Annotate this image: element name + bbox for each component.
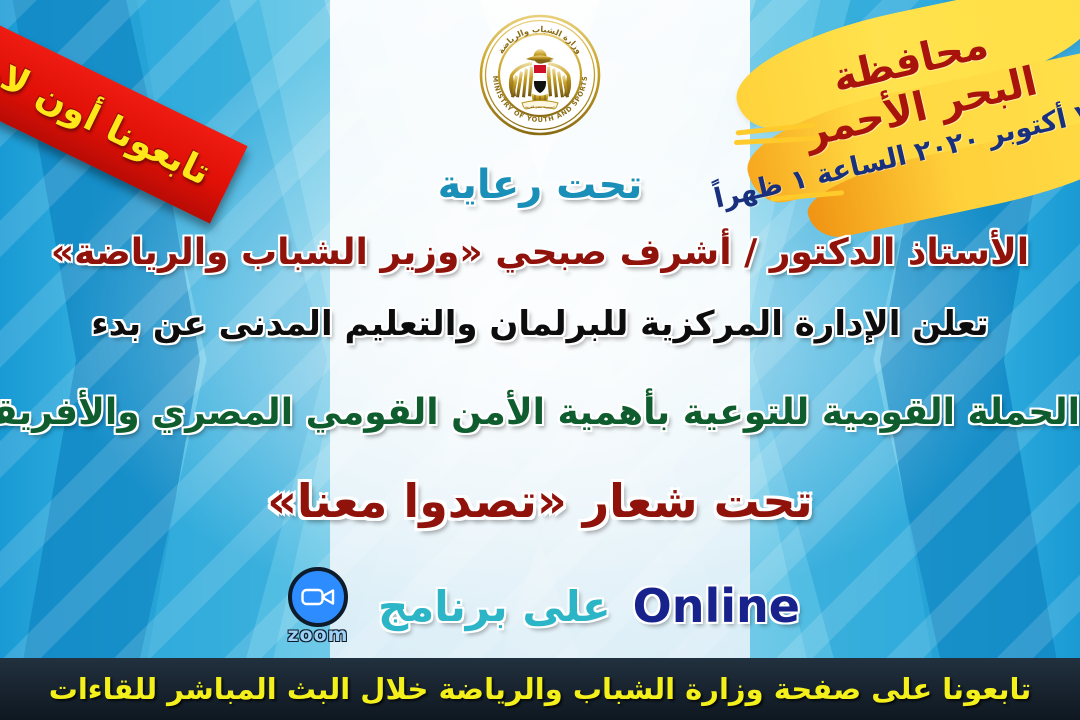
zoom-circle	[288, 567, 348, 627]
platform-label-arabic: على برنامج	[378, 582, 611, 631]
svg-text:جمهورية مصر العربية: جمهورية مصر العربية	[525, 105, 555, 109]
minister-name: الأستاذ الدكتور / أشرف صبحي «وزير الشباب…	[0, 232, 1080, 273]
zoom-wordmark: zoom	[280, 624, 356, 646]
ministry-seal-logo: جمهورية مصر العربية وزارة الشباب والرياض…	[479, 14, 601, 136]
campaign-title: الحملة القومية للتوعية بأهمية الأمن القو…	[0, 392, 1080, 433]
platform-label-online: Online	[633, 579, 800, 633]
campaign-slogan: تحت شعار «تصدوا معنا»	[0, 474, 1080, 528]
zoom-logo: zoom	[280, 567, 356, 645]
patronage-heading: تحت رعاية	[0, 162, 1080, 208]
announcement-line: تعلن الإدارة المركزية للبرلمان والتعليم …	[0, 304, 1080, 344]
video-camera-icon	[301, 587, 335, 607]
footer-bar: تابعونا على صفحة وزارة الشباب والرياضة خ…	[0, 658, 1080, 720]
platform-row: zoom على برنامج Online	[0, 566, 1080, 646]
footer-text: تابعونا على صفحة وزارة الشباب والرياضة خ…	[49, 672, 1032, 706]
event-poster: تابعونا أون لاين محافظة البحر الأحمر ٧ أ…	[0, 0, 1080, 720]
